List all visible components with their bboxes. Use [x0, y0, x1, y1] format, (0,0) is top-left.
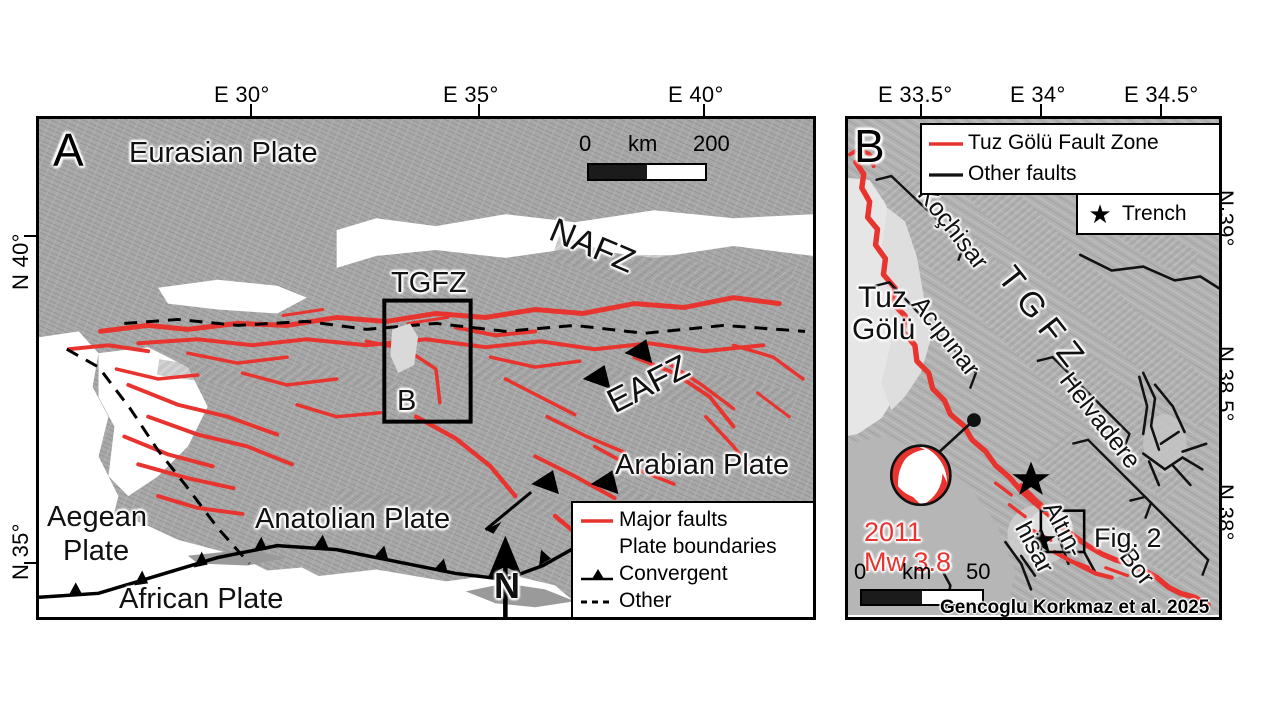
- fault-label-tgfz: TGFZ: [391, 267, 467, 300]
- panel-b-legend-trench[interactable]: ★ Trench: [1076, 193, 1221, 235]
- panel-a-top-tick-label-1: E 30°: [214, 82, 270, 108]
- panel-a-top-tick-label-3: E 40°: [668, 82, 724, 108]
- panel-b-top-tick-2: [1040, 104, 1042, 116]
- plate-label-arabian: Arabian Plate: [615, 449, 789, 482]
- legend-item-other-faults[interactable]: Other faults: [924, 159, 1217, 190]
- legend-label-other-faults: Other faults: [968, 163, 1077, 186]
- panel-a-scalebar: [587, 163, 707, 181]
- panel-a-left-tick-2: [24, 562, 36, 564]
- panel-b-scalebar-unit: km: [902, 559, 931, 585]
- figure-credit: Gencoglu Korkmaz et al. 2025: [940, 597, 1209, 619]
- legend-item-convergent[interactable]: Convergent: [575, 561, 811, 588]
- plate-label-aegean-line2: Plate: [63, 535, 129, 568]
- legend-label-trench: Trench: [1122, 203, 1187, 226]
- panel-a-legend[interactable]: Major faults Plate boundaries Convergent: [571, 501, 815, 619]
- panel-a-scalebar-fill-light: [647, 165, 705, 179]
- plate-label-anatolian: Anatolian Plate: [255, 503, 450, 536]
- panel-a-left-tick-1: [24, 235, 36, 237]
- plate-label-eurasian: Eurasian Plate: [129, 137, 318, 170]
- panel-b-scalebar-zero: 0: [854, 559, 866, 585]
- panel-b-top-tick-label-1: E 33.5°: [878, 82, 953, 108]
- legend-label-convergent: Convergent: [619, 563, 728, 586]
- panel-a-scalebar-fill-dark: [589, 165, 647, 179]
- red-line-icon: [575, 517, 619, 525]
- legend-label-other: Other: [619, 590, 672, 613]
- panel-b-scalebar-max: 50: [966, 559, 990, 585]
- panel-a-top-tick-3: [703, 104, 705, 116]
- earthquake-year: 2011: [864, 517, 922, 548]
- plate-label-african: African Plate: [119, 583, 283, 616]
- panel-a-left-tick-label-1: N 40°: [8, 233, 34, 290]
- panel-a-inset-label-b: B: [397, 385, 416, 418]
- dashed-line-icon: [575, 598, 619, 606]
- red-line-icon: [924, 140, 968, 148]
- legend-label-plate-boundaries: Plate boundaries: [619, 536, 777, 559]
- panel-a-letter: A: [53, 127, 84, 173]
- north-arrow-label: N: [494, 565, 520, 607]
- lake-label-line2: Gölü: [852, 313, 915, 347]
- panel-a-scalebar-unit: km: [628, 131, 657, 157]
- panel-b-top-tick-label-2: E 34°: [1010, 82, 1066, 108]
- legend-item-plate-boundaries[interactable]: Plate boundaries: [575, 534, 811, 561]
- panel-b-top-tick-3: [1160, 104, 1162, 116]
- legend-label-major-faults: Major faults: [619, 509, 728, 532]
- star-icon: ★: [1078, 201, 1122, 227]
- panel-a-map[interactable]: A Eurasian Plate Aegean Plate Anatolian …: [36, 116, 816, 620]
- legend-label-tgfz: Tuz Gölü Fault Zone: [968, 132, 1159, 155]
- legend-item-tgfz[interactable]: Tuz Gölü Fault Zone: [924, 128, 1217, 159]
- plate-label-aegean-line1: Aegean: [47, 501, 147, 534]
- panel-b-top-tick-1: [920, 104, 922, 116]
- convergent-triangle-icon: [575, 568, 619, 582]
- panel-b-inset-label-fig2: Fig. 2: [1094, 523, 1162, 554]
- panel-a-left-tick-label-2: N 35°: [8, 523, 34, 580]
- legend-item-trench[interactable]: ★ Trench: [1078, 195, 1219, 233]
- figure-root: E 30° E 35° E 40° N 40° N 35°: [0, 0, 1280, 720]
- panel-a-scalebar-max: 200: [693, 131, 730, 157]
- panel-b-scalebar-fill-dark: [862, 591, 922, 604]
- panel-b-map[interactable]: B Tuz Gölü TGFZ Koçhisar Acıpınar Helvad…: [845, 116, 1222, 620]
- legend-item-other[interactable]: Other: [575, 588, 811, 615]
- panel-a-top-tick-1: [250, 104, 252, 116]
- panel-a-top-tick-label-2: E 35°: [443, 82, 499, 108]
- panel-b-legend-faults[interactable]: Tuz Gölü Fault Zone Other faults: [920, 123, 1221, 195]
- lake-label-line1: Tuz: [858, 281, 907, 315]
- black-line-icon: [924, 171, 968, 179]
- panel-a-scalebar-zero: 0: [579, 131, 591, 157]
- panel-a-top-tick-2: [478, 104, 480, 116]
- legend-item-major-faults[interactable]: Major faults: [575, 507, 811, 534]
- panel-b-letter: B: [854, 123, 885, 169]
